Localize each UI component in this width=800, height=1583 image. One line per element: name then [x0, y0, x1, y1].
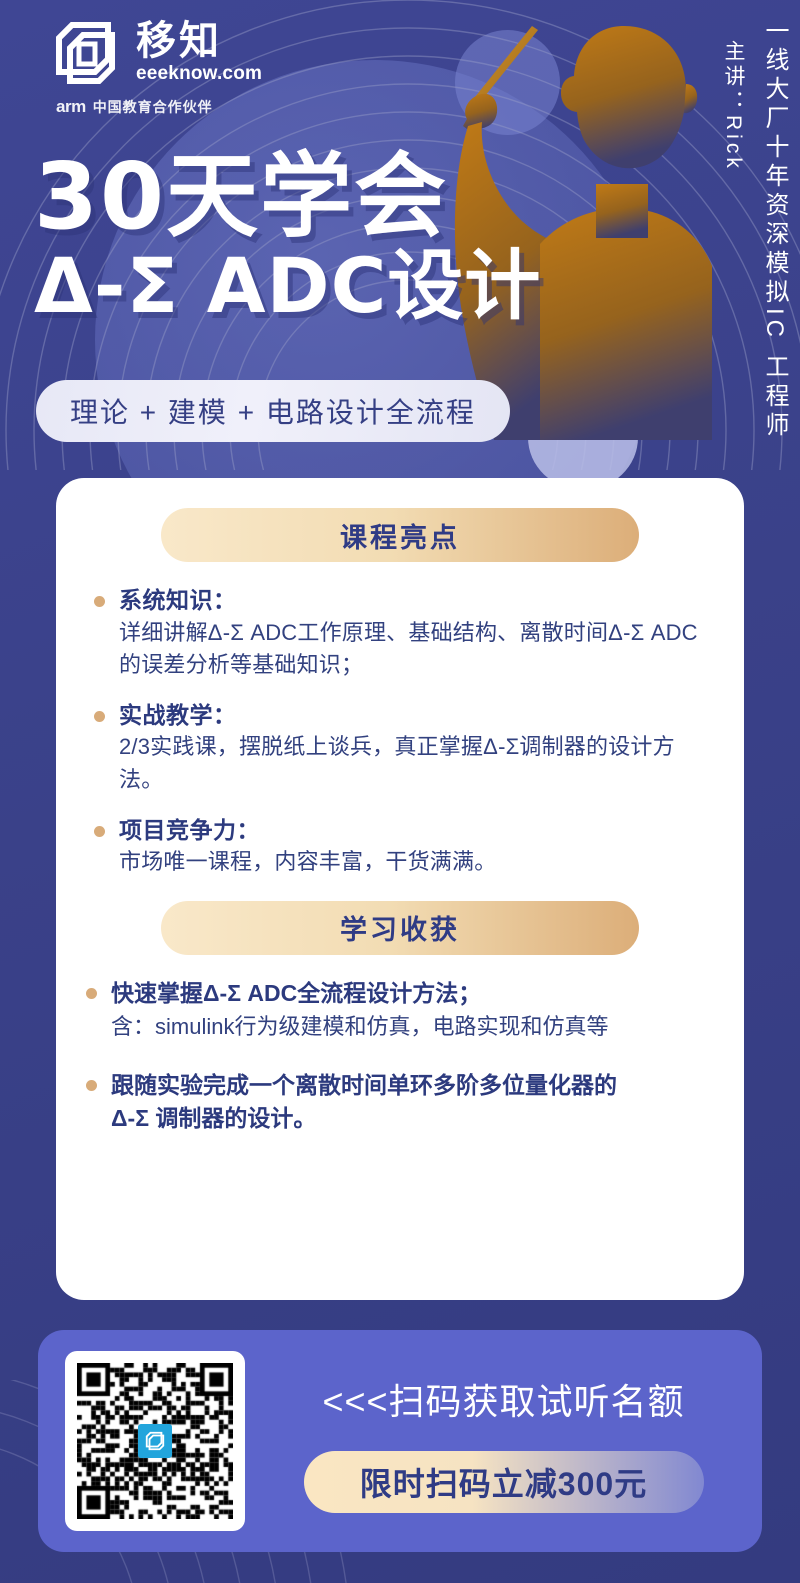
- section-header-gains: 学习收获: [161, 901, 639, 955]
- bullet-dot-icon: [94, 596, 105, 607]
- bullet-dot-icon: [86, 1080, 97, 1091]
- hero-title-line2: Δ-Σ ADC设计: [34, 248, 734, 324]
- highlight-text: 市场唯一课程，内容丰富，干货满满。: [119, 846, 710, 879]
- highlight-text: 2/3实践课，摆脱纸上谈兵，真正掌握Δ-Σ调制器的设计方法。: [119, 731, 710, 796]
- discount-badge[interactable]: 限时扫码立减300元: [304, 1451, 704, 1513]
- highlight-text: 详细讲解Δ-Σ ADC工作原理、基础结构、离散时间Δ-Σ ADC的误差分析等基础…: [119, 617, 710, 682]
- arm-wordmark: arm: [56, 97, 86, 117]
- list-item: 项目竞争力： 市场唯一课程，内容丰富，干货满满。: [90, 814, 710, 879]
- instructor-credential-vertical: 一线大厂十年资深模拟IC 工程师: [762, 18, 786, 441]
- cta-headline: <<<扫码获取试听名额: [267, 1373, 740, 1425]
- highlight-head: 系统知识：: [119, 584, 710, 617]
- arm-partner-line: arm 中国教育合作伙伴: [52, 97, 282, 117]
- highlight-head: 项目竞争力：: [119, 814, 710, 847]
- bullet-dot-icon: [86, 988, 97, 999]
- gain-line2: Δ-Σ 调制器的设计。: [111, 1102, 718, 1135]
- brand-url: eeeknow.com: [136, 63, 262, 85]
- lavender-blob-decoration: [528, 385, 638, 490]
- cta-panel[interactable]: <<<扫码获取试听名额 限时扫码立减300元: [38, 1330, 762, 1552]
- partner-text: 中国教育合作伙伴: [93, 97, 213, 117]
- qr-code-container[interactable]: [65, 1351, 245, 1531]
- list-item: 系统知识： 详细讲解Δ-Σ ADC工作原理、基础结构、离散时间Δ-Σ ADC的误…: [90, 584, 710, 682]
- brand-name-cn: 移知: [136, 20, 262, 62]
- highlight-head: 实战教学：: [119, 699, 710, 732]
- gains-list: 快速掌握Δ-Σ ADC全流程设计方法； 含：simulink行为级建模和仿真，电…: [56, 977, 744, 1136]
- highlights-list: 系统知识： 详细讲解Δ-Σ ADC工作原理、基础结构、离散时间Δ-Σ ADC的误…: [56, 584, 744, 879]
- bullet-dot-icon: [94, 826, 105, 837]
- gain-line1: 跟随实验完成一个离散时间单环多阶多位量化器的: [111, 1069, 718, 1102]
- hero-title-line1: 30天学会: [34, 152, 734, 242]
- small-circle-decoration: [455, 30, 560, 135]
- eeeknow-mark-icon: [138, 1424, 172, 1458]
- list-item: 实战教学： 2/3实践课，摆脱纸上谈兵，真正掌握Δ-Σ调制器的设计方法。: [90, 699, 710, 797]
- list-item: 跟随实验完成一个离散时间单环多阶多位量化器的 Δ-Σ 调制器的设计。: [82, 1069, 718, 1136]
- bullet-dot-icon: [94, 711, 105, 722]
- content-card: 课程亮点 系统知识： 详细讲解Δ-Σ ADC工作原理、基础结构、离散时间Δ-Σ …: [56, 478, 744, 1300]
- cta-text-block: <<<扫码获取试听名额 限时扫码立减300元: [245, 1369, 762, 1513]
- gain-line2: 含：simulink行为级建模和仿真，电路实现和仿真等: [111, 1010, 718, 1043]
- eeeknow-logo-icon: [52, 18, 124, 90]
- hero-subtitle-pill: 理论 + 建模 + 电路设计全流程: [36, 380, 510, 442]
- list-item: 快速掌握Δ-Σ ADC全流程设计方法； 含：simulink行为级建模和仿真，电…: [82, 977, 718, 1043]
- section-header-highlights: 课程亮点: [161, 508, 639, 562]
- promo-poster: 移知 eeeknow.com arm 中国教育合作伙伴 一线大厂十年资深模拟IC…: [0, 0, 800, 1583]
- gain-line1: 快速掌握Δ-Σ ADC全流程设计方法；: [111, 977, 718, 1010]
- hero-title-group: 30天学会 Δ-Σ ADC设计: [34, 152, 734, 324]
- brand-logo: 移知 eeeknow.com arm 中国教育合作伙伴: [52, 18, 282, 117]
